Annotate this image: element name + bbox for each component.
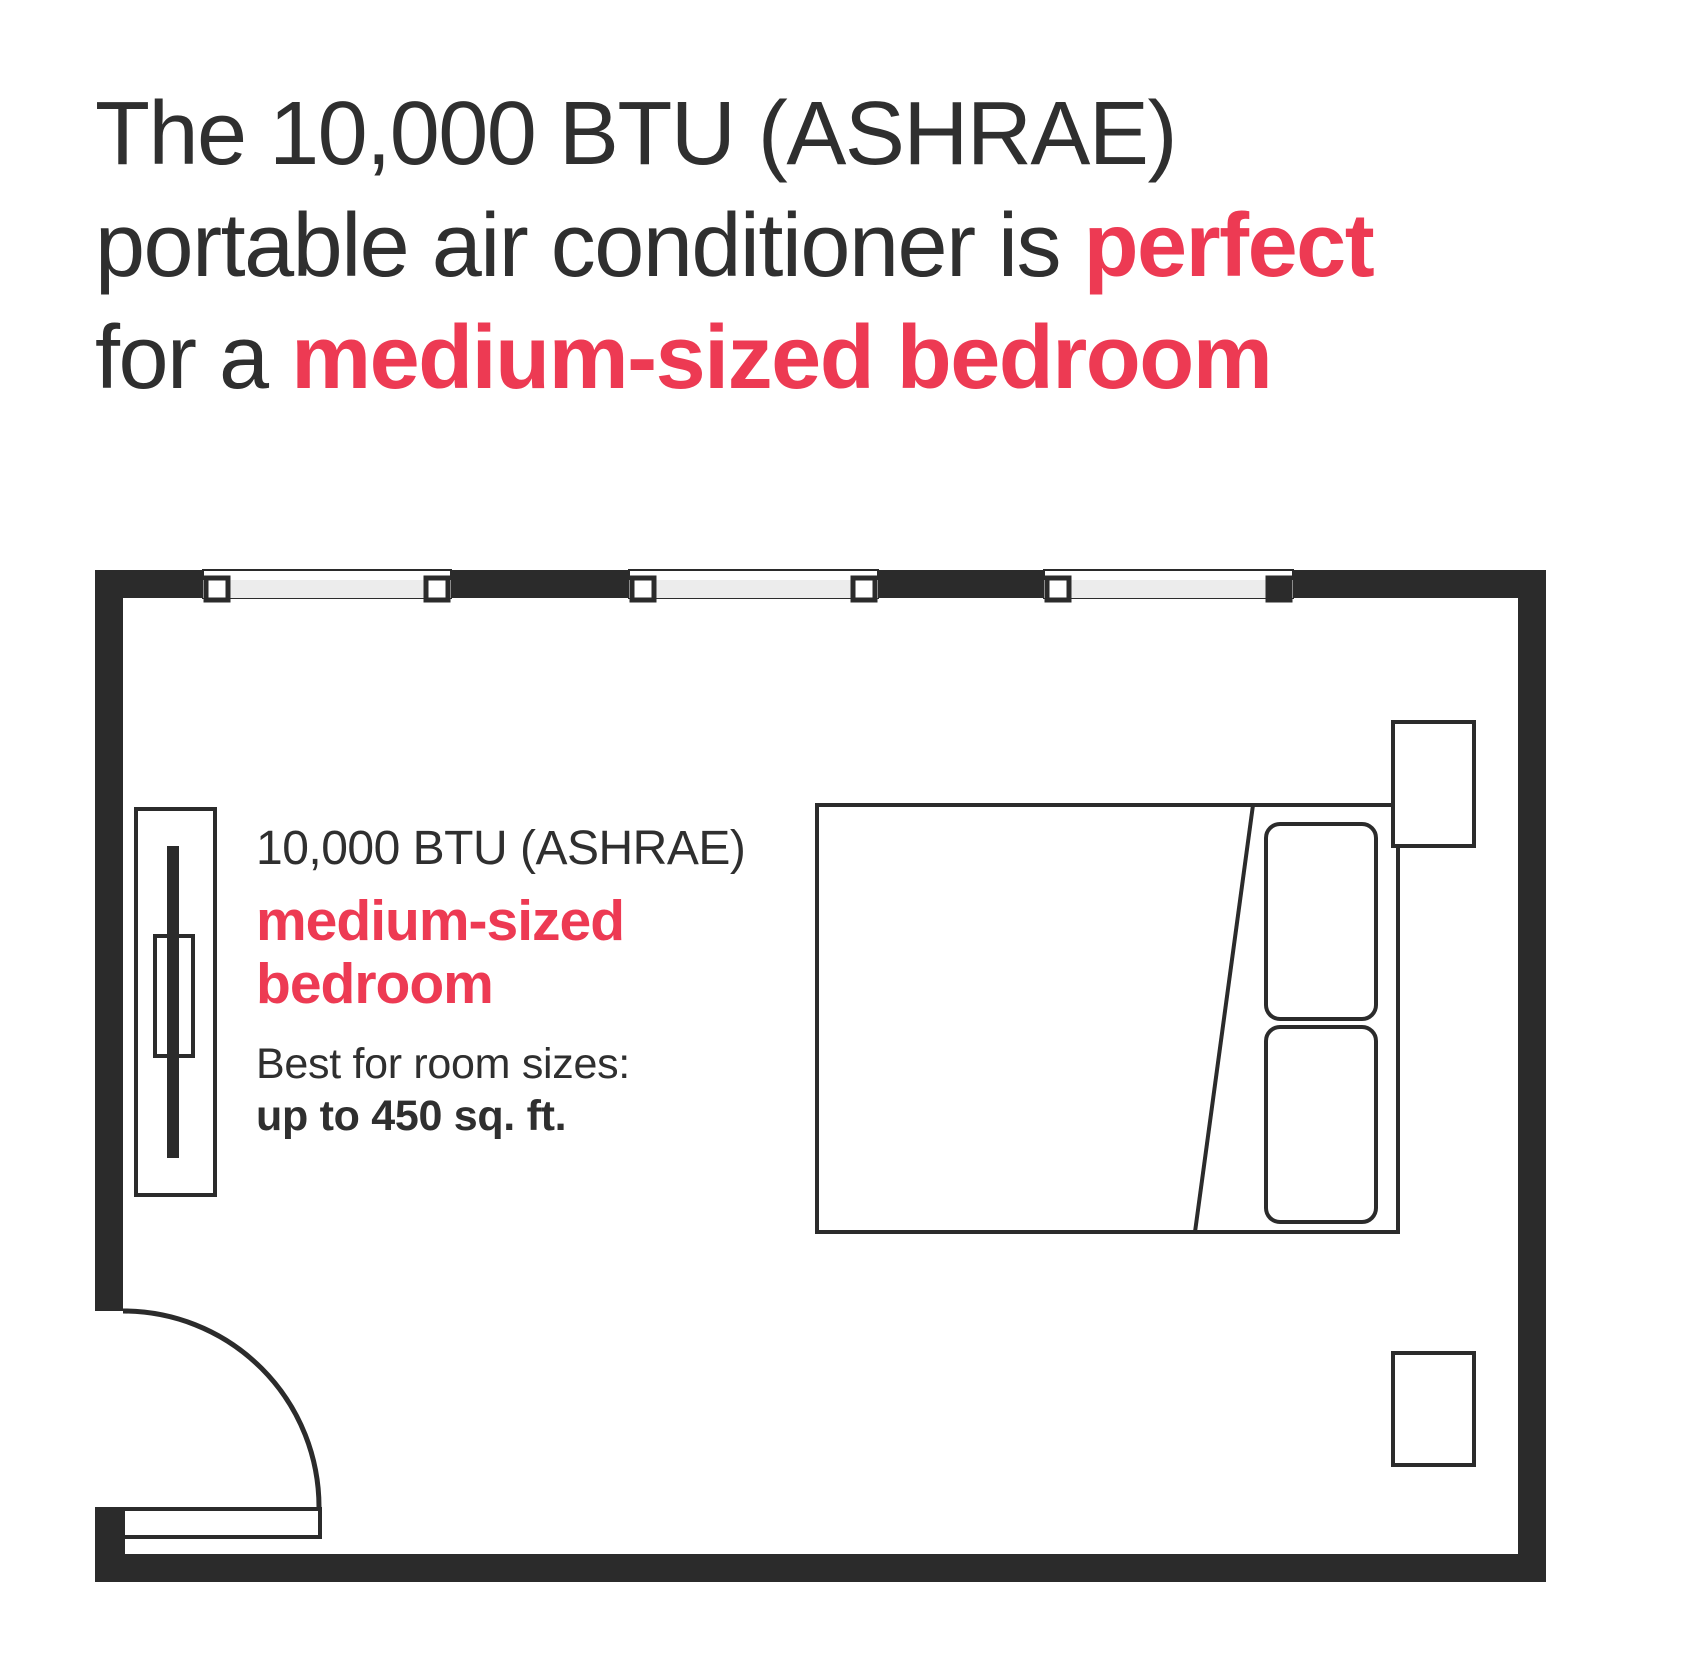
plan-label-room-type: medium-sized bedroom xyxy=(256,890,776,1016)
pillow-bottom xyxy=(1266,1027,1376,1222)
plan-label-btu: 10,000 BTU (ASHRAE) xyxy=(256,820,856,878)
window-3 xyxy=(1044,570,1293,600)
entry-door xyxy=(123,1311,320,1537)
window-1 xyxy=(203,570,451,600)
plan-label-best-for: Best for room sizes: xyxy=(256,1038,856,1090)
plan-label-block: 10,000 BTU (ASHRAE) medium-sized bedroom… xyxy=(256,820,856,1142)
bed xyxy=(817,805,1398,1232)
right-wall xyxy=(1518,570,1546,1582)
plan-label-size: up to 450 sq. ft. xyxy=(256,1090,856,1142)
nightstand-bottom xyxy=(1393,1353,1474,1465)
bottom-wall-left-stub xyxy=(95,1507,125,1555)
wardrobe xyxy=(136,809,215,1195)
door-leaf xyxy=(123,1509,320,1537)
nightstand-top xyxy=(1393,722,1474,846)
window-2 xyxy=(629,570,878,600)
wardrobe-clothes-rod xyxy=(167,846,179,1158)
bottom-wall xyxy=(95,1554,1546,1582)
pillow-top xyxy=(1266,824,1376,1019)
left-wall xyxy=(95,570,123,1311)
